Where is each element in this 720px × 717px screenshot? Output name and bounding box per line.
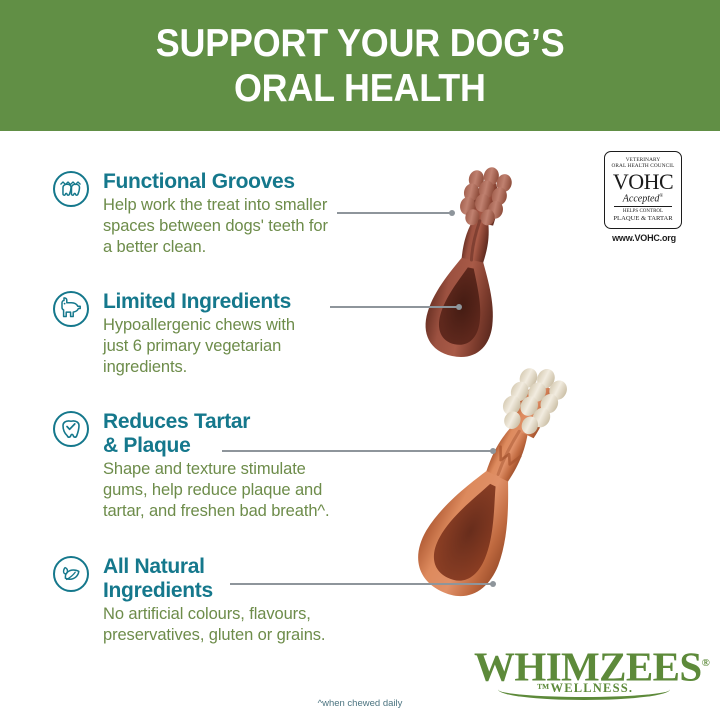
- footnote: ^when chewed daily: [0, 698, 720, 709]
- feature-functional-grooves: Functional Grooves Help work the treat i…: [52, 170, 352, 258]
- vohc-url: www.VOHC.org: [604, 233, 684, 243]
- whimzees-logo: WHIMZEES® ™WELLNESS.: [474, 643, 696, 696]
- feature-limited-ingredients: Limited Ingredients Hypoallergenic chews…: [52, 290, 352, 378]
- leader-dot: [449, 210, 455, 216]
- page-title-line-1: SUPPORT YOUR DOG’S: [156, 21, 565, 66]
- page-header: SUPPORT YOUR DOG’S ORAL HEALTH: [0, 0, 720, 131]
- vohc-registered-mark: ®: [659, 194, 663, 199]
- feature-reduces-tartar-plaque: Reduces Tartar & Plaque Shape and textur…: [52, 410, 352, 522]
- dog-profile-icon: [52, 290, 90, 328]
- feature-title: Limited Ingredients: [103, 290, 352, 314]
- two-teeth-icon: [52, 170, 90, 208]
- leader-dot: [490, 448, 496, 454]
- feature-title: All Natural Ingredients: [103, 555, 352, 603]
- leader-dot: [456, 304, 462, 310]
- feature-body: No artificial colours, flavours, preserv…: [103, 604, 352, 646]
- vohc-accepted-seal: VETERINARY ORAL HEALTH COUNCIL VOHC Acce…: [604, 151, 684, 243]
- vohc-bottom-line-2: PLAQUE & TARTAR: [608, 215, 678, 223]
- product-image-dark-chew: [396, 160, 546, 380]
- logo-registered-mark: ®: [702, 657, 710, 669]
- vohc-seal-box: VETERINARY ORAL HEALTH COUNCIL VOHC Acce…: [604, 151, 682, 229]
- leader-line-functional-grooves: [337, 212, 451, 214]
- logo-swoosh: [498, 679, 670, 700]
- logo-brand-name: WHIMZEES®: [474, 643, 709, 688]
- feature-title: Reduces Tartar & Plaque: [103, 410, 352, 458]
- leader-dot: [490, 581, 496, 587]
- feature-body: Shape and texture stimulate gums, help r…: [103, 459, 352, 522]
- leaf-icon: [52, 555, 90, 593]
- vohc-accepted-word: Accepted: [623, 193, 660, 204]
- page-title-line-2: ORAL HEALTH: [234, 66, 486, 111]
- feature-body: Hypoallergenic chews with just 6 primary…: [103, 315, 352, 378]
- feature-body: Help work the treat into smaller spaces …: [103, 195, 352, 258]
- feature-title: Functional Grooves: [103, 170, 352, 194]
- tooth-check-icon: [52, 410, 90, 448]
- vohc-acronym: VOHC: [608, 171, 678, 193]
- vohc-divider: [614, 206, 672, 207]
- feature-all-natural-ingredients: All Natural Ingredients No artificial co…: [52, 555, 352, 646]
